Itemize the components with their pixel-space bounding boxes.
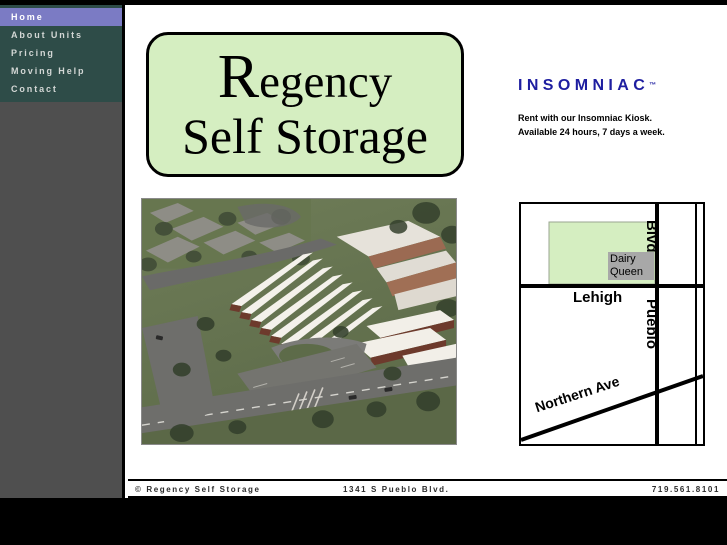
location-map: Dairy Queen Blvd Pueblo Lehigh Northern … xyxy=(519,202,705,446)
footer: © Regency Self Storage 1341 S Pueblo Blv… xyxy=(128,479,727,498)
page-root: Home About Units Pricing Moving Help Con… xyxy=(0,0,727,545)
logo-line-two: Self Storage xyxy=(149,107,461,165)
sidebar-item-label: About Units xyxy=(11,30,83,40)
sidebar-item-label: Home xyxy=(11,12,44,22)
page-body: Home About Units Pricing Moving Help Con… xyxy=(0,5,727,498)
map-label-pueblo: Pueblo xyxy=(643,299,660,349)
sidebar: Home About Units Pricing Moving Help Con… xyxy=(0,5,125,498)
insomniac-wordmark: INSOMNIAC™ xyxy=(518,77,718,95)
dairy-queen-marker: Dairy Queen xyxy=(608,252,654,280)
sidebar-item-pricing[interactable]: Pricing xyxy=(0,44,122,62)
dairy-queen-line-two: Queen xyxy=(610,266,654,279)
main-navigation: Home About Units Pricing Moving Help Con… xyxy=(0,5,122,102)
trademark-icon: ™ xyxy=(649,82,656,89)
sidebar-item-about-units[interactable]: About Units xyxy=(0,26,122,44)
sidebar-item-label: Moving Help xyxy=(11,66,85,76)
main-content: Regency Self Storage INSOMNIAC™ Rent wit… xyxy=(128,5,727,498)
aerial-photo xyxy=(141,198,457,445)
sidebar-item-label: Pricing xyxy=(11,48,55,58)
footer-copyright: © Regency Self Storage xyxy=(135,485,261,494)
sidebar-item-home[interactable]: Home xyxy=(0,8,122,26)
insomniac-description: Rent with our Insomniac Kiosk. Available… xyxy=(518,111,718,139)
sidebar-item-label: Contact xyxy=(11,84,58,94)
site-logo: Regency Self Storage xyxy=(146,32,464,177)
footer-phone: 719.561.8101 xyxy=(652,485,720,494)
map-label-lehigh: Lehigh xyxy=(573,289,622,306)
insomniac-promo: INSOMNIAC™ Rent with our Insomniac Kiosk… xyxy=(518,77,718,139)
logo-line-one-rest: egency xyxy=(259,56,392,108)
logo-drop-cap: R xyxy=(218,43,259,111)
sidebar-item-contact[interactable]: Contact xyxy=(0,80,122,98)
footer-address: 1341 S Pueblo Blvd. xyxy=(343,485,449,494)
map-label-blvd: Blvd xyxy=(643,220,660,253)
aerial-photo-image xyxy=(142,199,456,444)
insomniac-wordmark-text: INSOMNIAC xyxy=(518,77,649,94)
insomniac-description-line-two: Available 24 hours, 7 days a week. xyxy=(518,125,718,139)
dairy-queen-line-one: Dairy xyxy=(610,253,654,266)
sidebar-item-moving-help[interactable]: Moving Help xyxy=(0,62,122,80)
insomniac-description-line-one: Rent with our Insomniac Kiosk. xyxy=(518,111,718,125)
logo-line-one: Regency xyxy=(149,50,461,109)
